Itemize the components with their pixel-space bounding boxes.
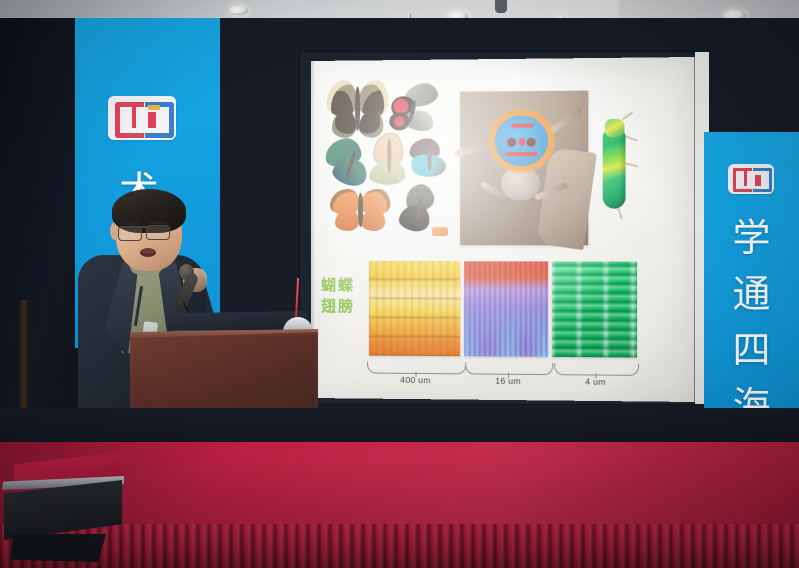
butterfly-1 — [327, 78, 389, 141]
stage-pleated-skirt — [0, 524, 799, 568]
sem-lamellae — [552, 261, 637, 357]
floor-monitor-base — [10, 534, 106, 562]
spider-abdomen-spot-left — [507, 138, 516, 147]
banner-right: 浦 海 讲 堂 学 通 四 海 — [704, 132, 799, 444]
logo-left: 浦 海 讲 堂 — [108, 96, 176, 140]
speaker-glasses-bridge — [139, 226, 147, 228]
spider-branch — [536, 147, 597, 250]
beetle-pronotum — [605, 119, 625, 137]
speaker-glasses-right — [146, 225, 170, 240]
banner-right-char-1: 学 — [704, 210, 799, 266]
caption-char-1: 蝴 — [321, 276, 338, 294]
logo-left-blue-bar — [148, 112, 156, 128]
beetle-leg-3 — [623, 162, 638, 167]
banner-right-text: 学 通 四 海 — [704, 210, 799, 434]
caption-line-2: 翅膀 — [321, 296, 367, 317]
logo-right-subtext: 浦 海 讲 堂 — [728, 188, 774, 192]
presentation-slide: 400 um 16 um 4 um 蝴蝶 翅膀 — [311, 57, 694, 402]
logo-left-red-bar — [132, 102, 136, 128]
downlight-1 — [229, 6, 248, 15]
sem-scale-detail — [464, 261, 548, 357]
spider-abdomen-stripe-bottom — [505, 152, 538, 156]
logo-left-subtext: 浦 海 讲 堂 — [108, 132, 176, 138]
peacock-spider-photo — [460, 91, 588, 246]
speaker-glasses-left — [118, 226, 142, 241]
butterfly-specimen-small — [432, 227, 448, 236]
speaker-mouth — [140, 248, 156, 257]
beetle-elytra — [603, 129, 626, 209]
spider-abdomen-stripe-top — [511, 124, 534, 128]
logo-left-accent — [148, 105, 160, 110]
butterfly-collage — [323, 74, 452, 240]
projection-screen: 400 um 16 um 4 um 蝴蝶 翅膀 — [311, 57, 694, 402]
spider-abdomen-spot-right — [527, 138, 536, 147]
beetle-leg-2 — [624, 135, 638, 142]
caption-line-1: 蝴蝶 — [321, 275, 367, 296]
scale-label-1: 400 um — [367, 375, 464, 386]
jewel-beetle-photo — [599, 111, 634, 221]
caption-char-2: 蝶 — [338, 276, 355, 294]
scale-label-3: 4 um — [554, 376, 637, 387]
spider-cephalothorax — [501, 166, 540, 201]
speaker-eyebrow-right — [150, 221, 167, 224]
sem-wing-scales — [369, 261, 460, 356]
scale-label-2: 16 um — [465, 375, 551, 386]
logo-right-blue-bar — [755, 175, 761, 186]
banner-right-char-2: 通 — [704, 266, 799, 322]
butterfly-5 — [407, 136, 452, 185]
speaker-eyebrow-left — [122, 222, 139, 225]
photo-scene: 浦 海 讲 堂 术 — [0, 0, 799, 568]
spider-abdomen — [495, 115, 548, 166]
spider-leg-right — [542, 107, 584, 138]
beetle-leg-1 — [622, 111, 633, 120]
butterfly-2 — [385, 84, 444, 137]
spider-abdomen-stripe-mid — [518, 138, 525, 146]
butterfly-6 — [329, 187, 391, 235]
banner-right-char-3: 四 — [704, 322, 799, 378]
scale-bar-2: 16 um — [465, 362, 551, 385]
slide-caption-cn: 蝴蝶 翅膀 — [321, 275, 367, 317]
logo-right-red-bar — [744, 168, 747, 186]
scale-bar-1: 400 um — [367, 361, 464, 384]
ceiling-speaker — [495, 0, 507, 13]
logo-right: 浦 海 讲 堂 — [728, 164, 774, 194]
scale-bar-3: 4 um — [554, 363, 637, 386]
caption-char-3: 翅 — [321, 297, 338, 315]
caption-char-4: 膀 — [338, 297, 355, 315]
